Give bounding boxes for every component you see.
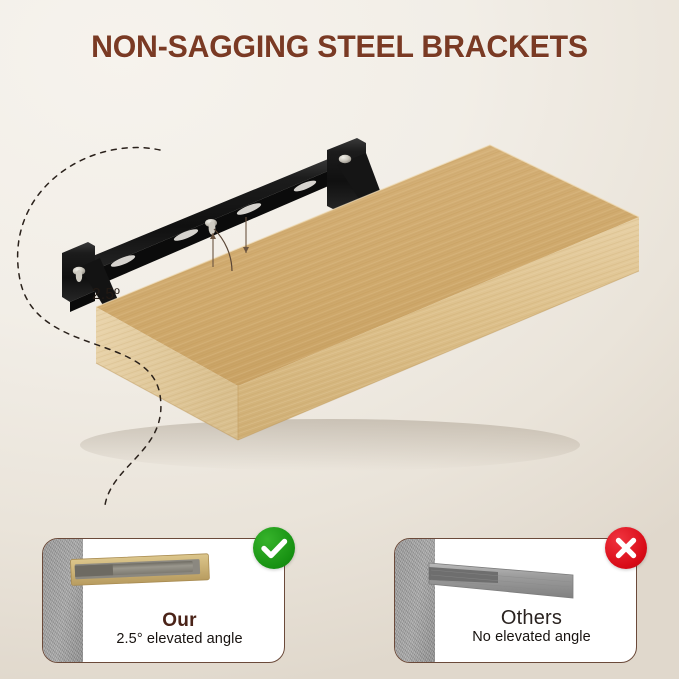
others-title: Others xyxy=(425,608,637,629)
comparison-panel-our: Our 2.5° elevated angle xyxy=(42,538,285,663)
page-title: NON-SAGGING STEEL BRACKETS xyxy=(14,28,666,65)
our-title: Our xyxy=(73,610,285,631)
others-caption-block: Others No elevated angle xyxy=(425,608,637,646)
cross-icon xyxy=(605,527,647,569)
others-subtitle: No elevated angle xyxy=(425,629,637,646)
comparison-panel-others: Others No elevated angle xyxy=(394,538,637,663)
our-caption-block: Our 2.5° elevated angle xyxy=(73,610,285,648)
product-infographic: NON-SAGGING STEEL BRACKETS xyxy=(0,0,679,679)
angle-value-label: 2.5º xyxy=(92,286,120,304)
our-subtitle: 2.5° elevated angle xyxy=(73,631,285,648)
check-icon xyxy=(253,527,295,569)
hero-product-image: 2.5º xyxy=(0,95,679,505)
